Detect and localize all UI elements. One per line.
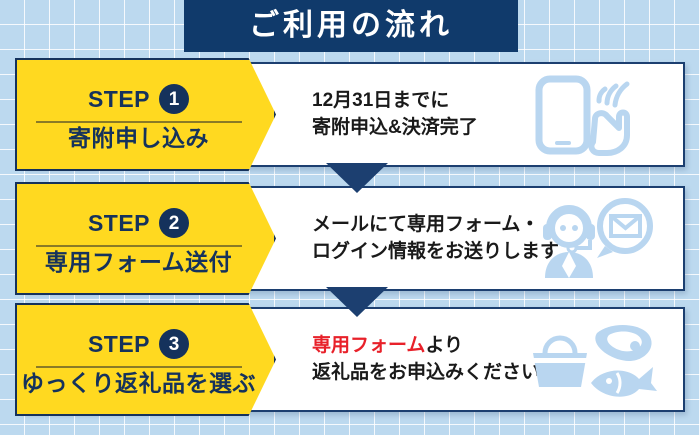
step-description-accent: 専用フォーム	[312, 335, 425, 356]
step-divider-2	[36, 245, 242, 247]
step-description-1: 12月31日までに 寄附申込&決済完了	[312, 64, 478, 165]
step-label-1: STEP 1 寄附申し込み	[15, 58, 276, 171]
page-title-banner: ご利用の流れ	[184, 0, 518, 52]
step-number-badge-2: 2	[159, 208, 189, 238]
step-description-line: 12月31日までに	[312, 90, 478, 112]
step-card-1: STEP 1 寄附申し込み 12月31日までに 寄附申込&決済完了	[22, 62, 685, 167]
step-divider-1	[36, 121, 242, 123]
step-description-line: 専用フォームより	[312, 335, 540, 357]
step-illustration-1	[510, 64, 675, 165]
flow-diagram: ご利用の流れ STEP 1 寄附申し込み 12月31日までに 寄附申込&決済完了	[0, 0, 700, 435]
step-illustration-2	[510, 188, 675, 289]
step-illustration-3	[510, 309, 675, 410]
step-description-line: 返礼品をお申込みください	[312, 362, 540, 384]
step-label-top-1: STEP 1	[39, 79, 253, 119]
step-label-2: STEP 2 専用フォーム送付	[15, 182, 276, 295]
food-gifts-icon	[525, 317, 661, 403]
step-title-2: 専用フォーム送付	[45, 251, 246, 274]
step-label-3: STEP 3 ゆっくり返礼品を選ぶ	[15, 303, 276, 416]
operator-email-icon	[533, 198, 653, 280]
step-word-3: STEP	[88, 333, 150, 356]
page-title: ご利用の流れ	[249, 11, 453, 41]
step-card-3: STEP 3 ゆっくり返礼品を選ぶ 専用フォームより 返礼品をお申込みください	[22, 307, 685, 412]
smartphone-tap-icon	[527, 73, 659, 157]
step-word-1: STEP	[88, 88, 150, 111]
step-number-badge-1: 1	[159, 84, 189, 114]
step-word-2: STEP	[88, 212, 150, 235]
step-description-line: 寄附申込&決済完了	[312, 117, 478, 139]
step-card-2: STEP 2 専用フォーム送付 メールにて専用フォーム・ ログイン情報をお送りし…	[22, 186, 685, 291]
step-description-3: 専用フォームより 返礼品をお申込みください	[312, 309, 540, 410]
step-title-1: 寄附申し込み	[68, 127, 223, 150]
step-title-3: ゆっくり返礼品を選ぶ	[21, 372, 270, 395]
flow-connector-arrow-2	[326, 287, 388, 317]
step-number-badge-3: 3	[159, 329, 189, 359]
step-divider-3	[36, 366, 242, 368]
flow-connector-arrow-1	[326, 163, 388, 193]
step-label-top-2: STEP 2	[39, 203, 253, 243]
step-label-top-3: STEP 3	[39, 324, 253, 364]
step-description-suffix: より	[425, 335, 463, 356]
